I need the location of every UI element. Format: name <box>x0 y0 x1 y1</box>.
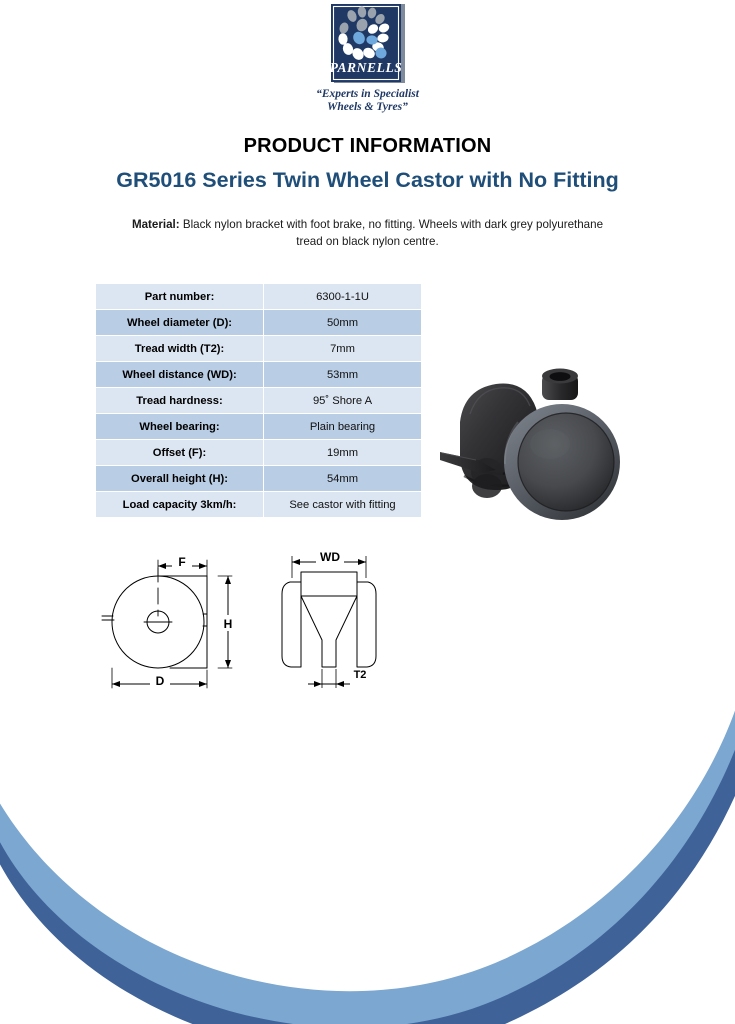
svg-text:WD: WD <box>320 550 340 564</box>
spec-value: 95˚ Shore A <box>264 388 422 414</box>
tagline-line-1: “Experts in Specialist <box>0 88 735 101</box>
spec-key: Offset (F): <box>96 440 264 466</box>
drawing-left-wheel <box>282 582 301 667</box>
svg-text:D: D <box>156 674 165 688</box>
tagline-line-2: Wheels & Tyres” <box>0 101 735 114</box>
logo-wordmark: PARNELLS <box>331 60 402 75</box>
castor-stem-socket <box>542 369 578 401</box>
drawing-bracket-body <box>301 572 357 667</box>
spec-row: Load capacity 3km/h:See castor with fitt… <box>96 492 422 518</box>
spec-row: Offset (F):19mm <box>96 440 422 466</box>
product-information-eyebrow: PRODUCT INFORMATION <box>0 135 735 158</box>
spec-key: Part number: <box>96 284 264 310</box>
spec-key: Overall height (H): <box>96 466 264 492</box>
spec-key: Tread hardness: <box>96 388 264 414</box>
brand-tagline: “Experts in Specialist Wheels & Tyres” <box>0 88 735 114</box>
svg-text:T2: T2 <box>354 669 367 681</box>
castor-wheel <box>504 404 620 520</box>
dimension-H: H <box>220 576 236 668</box>
spec-row: Overall height (H):54mm <box>96 466 422 492</box>
dimension-F: F <box>158 555 207 569</box>
svg-text:H: H <box>224 617 233 631</box>
specification-table: Part number:6300-1-1UWheel diameter (D):… <box>95 283 422 518</box>
technical-drawing-side-view: F H D <box>100 530 265 702</box>
spec-value: Plain bearing <box>264 414 422 440</box>
spec-value: See castor with fitting <box>264 492 422 518</box>
material-label: Material: <box>132 218 180 231</box>
dimension-D: D <box>112 674 207 688</box>
spec-row: Wheel diameter (D):50mm <box>96 310 422 336</box>
technical-drawing-front-view: WD T2 <box>268 530 413 702</box>
dimension-WD: WD <box>292 550 366 565</box>
spec-key: Load capacity 3km/h: <box>96 492 264 518</box>
spec-value: 7mm <box>264 336 422 362</box>
spec-value: 6300-1-1U <box>264 284 422 310</box>
spec-key: Wheel diameter (D): <box>96 310 264 336</box>
specification-table-body: Part number:6300-1-1UWheel diameter (D):… <box>96 284 422 518</box>
spec-key: Tread width (T2): <box>96 336 264 362</box>
spec-row: Part number:6300-1-1U <box>96 284 422 310</box>
spec-value: 19mm <box>264 440 422 466</box>
spec-value: 53mm <box>264 362 422 388</box>
dimension-T2: T2 <box>308 669 366 687</box>
page-title: GR5016 Series Twin Wheel Castor with No … <box>0 168 735 193</box>
svg-text:F: F <box>178 555 185 569</box>
parnells-logo-icon: PARNELLS <box>331 4 405 86</box>
spec-value: 50mm <box>264 310 422 336</box>
spec-row: Wheel distance (WD):53mm <box>96 362 422 388</box>
material-description: Material: Black nylon bracket with foot … <box>120 216 615 250</box>
swoosh-arc-light <box>0 702 735 1024</box>
product-photo-castor <box>440 352 640 537</box>
drawing-right-wheel <box>357 582 376 667</box>
spec-key: Wheel bearing: <box>96 414 264 440</box>
spec-value: 54mm <box>264 466 422 492</box>
swoosh-arc-dark <box>0 716 735 1024</box>
material-text: Black nylon bracket with foot brake, no … <box>180 218 603 248</box>
brand-logo-block: PARNELLS “Experts in Specialist Wheels &… <box>0 4 735 114</box>
spec-row: Wheel bearing:Plain bearing <box>96 414 422 440</box>
spec-row: Tread hardness:95˚ Shore A <box>96 388 422 414</box>
spec-row: Tread width (T2):7mm <box>96 336 422 362</box>
footer-decorative-swoosh <box>0 694 735 1024</box>
spec-key: Wheel distance (WD): <box>96 362 264 388</box>
